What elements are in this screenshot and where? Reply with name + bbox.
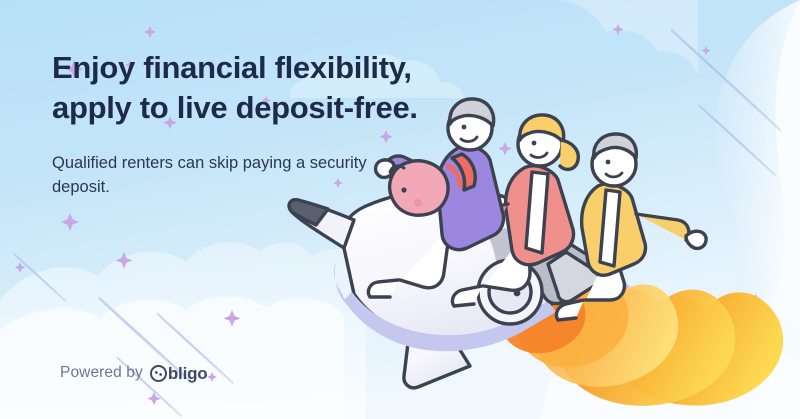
banner-copy: Enjoy financial flexibility, apply to li… — [52, 48, 472, 199]
promo-banner: Enjoy financial flexibility, apply to li… — [0, 0, 800, 419]
obligo-name-text: bligo — [168, 365, 208, 382]
page-title: Enjoy financial flexibility, apply to li… — [52, 48, 472, 129]
powered-by-obligo-logo: Powered by bligo — [60, 364, 207, 382]
banner-subheadline: Qualified renters can skip paying a secu… — [52, 129, 372, 200]
headline-line-1: Enjoy financial flexibility, — [52, 50, 412, 85]
obligo-wordmark: bligo — [150, 365, 208, 382]
powered-by-label: Powered by — [60, 364, 143, 382]
obligo-o-face-icon — [150, 365, 167, 382]
headline-line-2: apply to live deposit-free. — [52, 90, 418, 125]
